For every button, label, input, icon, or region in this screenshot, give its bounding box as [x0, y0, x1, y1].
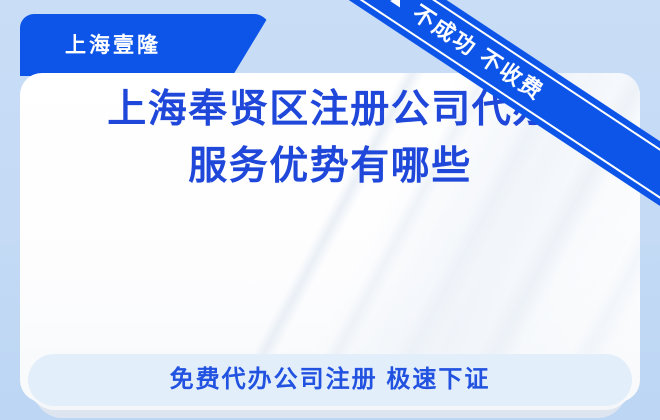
triangle-up-icon: [390, 0, 405, 8]
promo-pill[interactable]: 免费代办公司注册 极速下证: [28, 354, 632, 406]
brand-tab[interactable]: [20, 14, 270, 76]
card-gloss-sheen: [20, 73, 640, 402]
card-gloss-streaks: [20, 73, 640, 402]
main-card: [20, 73, 640, 402]
promo-pill-label: 免费代办公司注册 极速下证: [170, 368, 491, 392]
poster-canvas: 上海壹隆 上海奉贤区注册公司代办 服务优势有哪些 免费代办公司注册 极速下证 不…: [0, 0, 660, 420]
